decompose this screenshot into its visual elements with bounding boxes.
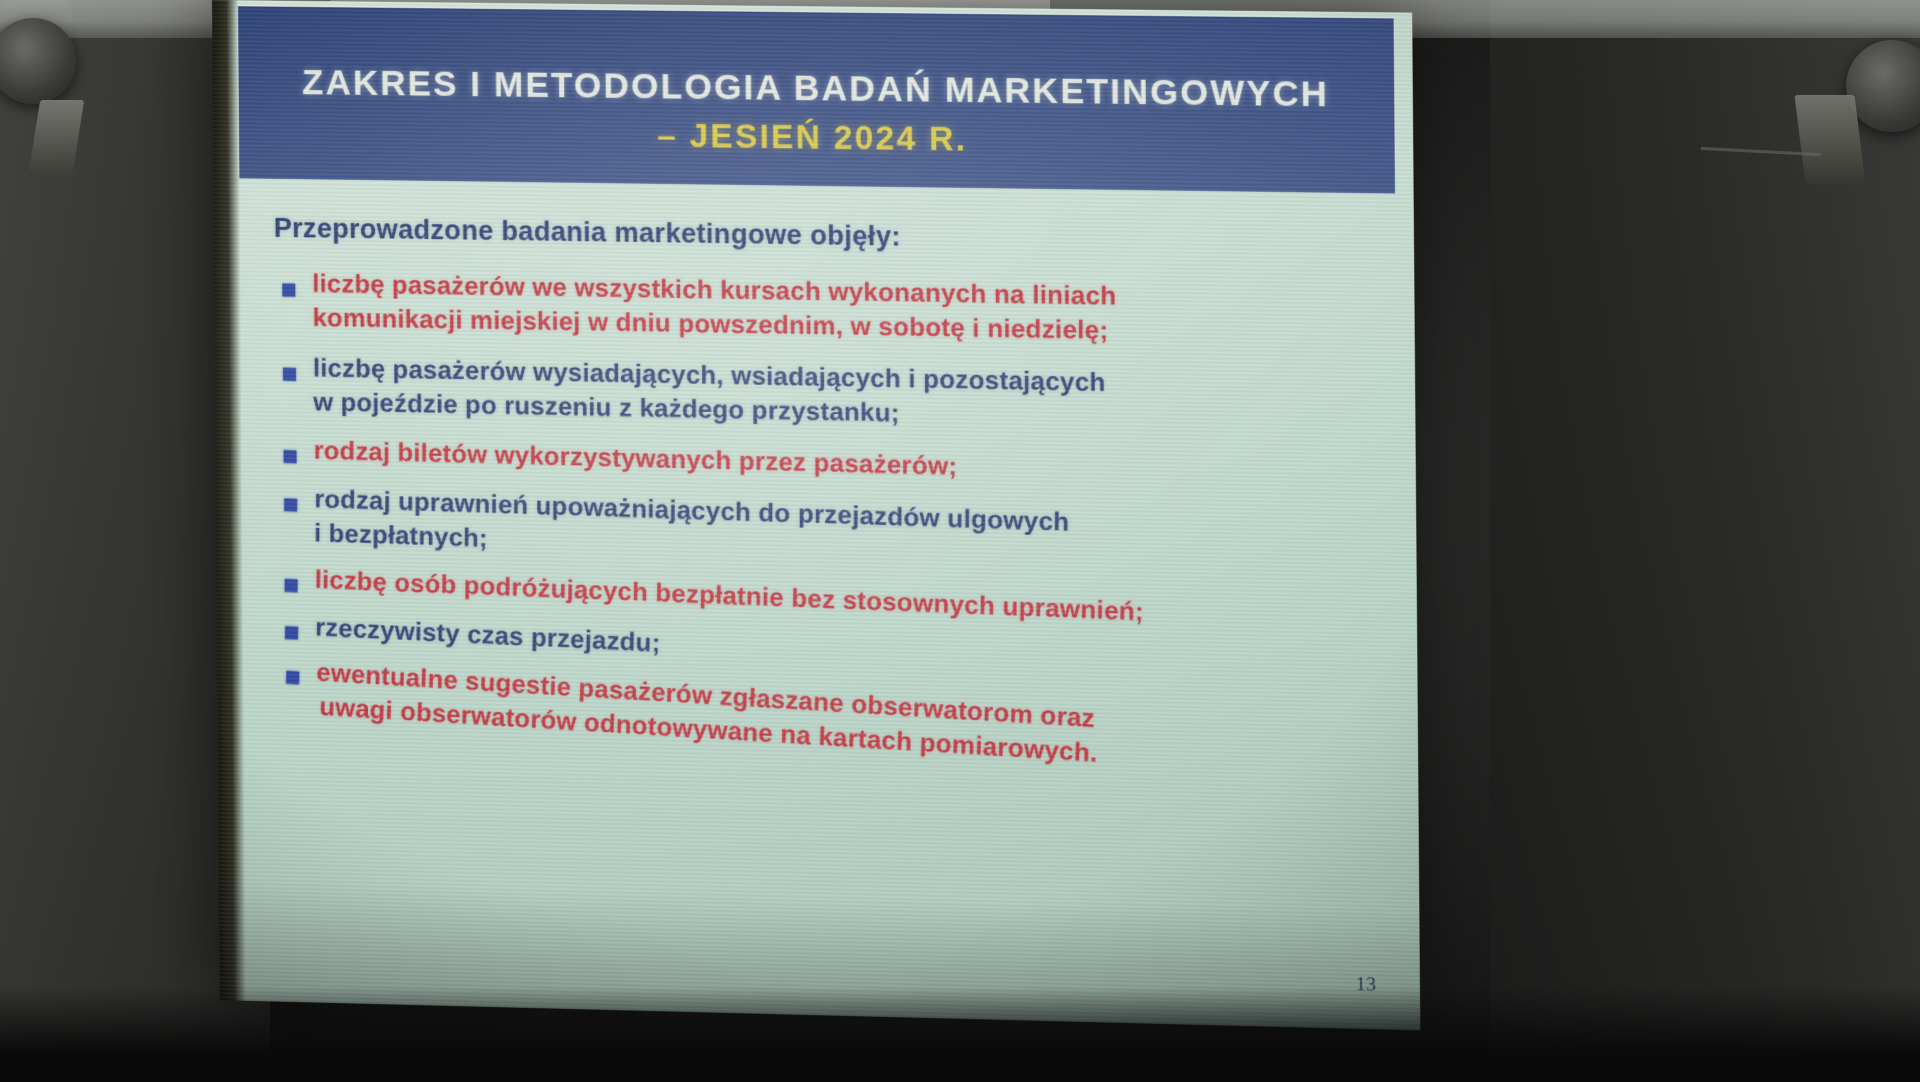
bullet-line-1: rzeczywisty czas przejazdu;: [315, 614, 661, 658]
bullet-square-icon: [285, 626, 298, 640]
bullet-text: liczbę pasażerów we wszystkich kursach w…: [312, 268, 1361, 353]
bullet-square-icon: [285, 579, 298, 593]
bullet-square-icon: [286, 671, 299, 685]
bullet-square-icon: [283, 367, 296, 380]
bullet-text: rodzaj biletów wykorzystywanych przez pa…: [314, 434, 1362, 494]
floor-shadow: [0, 987, 1920, 1082]
slide-body: Przeprowadzone badania marketingowe obję…: [239, 184, 1401, 1019]
bullet-text: rodzaj uprawnień upoważniających do prze…: [314, 483, 1363, 584]
list-item: liczbę pasażerów we wszystkich kursach w…: [274, 267, 1361, 353]
bullet-square-icon: [282, 283, 295, 296]
bullet-line-2: w pojeździe po ruszeniu z każdego przyst…: [313, 386, 1362, 440]
list-item: rodzaj biletów wykorzystywanych przez pa…: [276, 433, 1363, 494]
list-item: liczbę pasażerów wysiadających, wsiadają…: [275, 351, 1362, 440]
ceiling-bracket: [1699, 147, 1821, 187]
bullet-text: liczbę pasażerów wysiadających, wsiadają…: [313, 352, 1362, 440]
bullet-list: liczbę pasażerów we wszystkich kursach w…: [274, 268, 1364, 767]
bullet-line-1: rodzaj biletów wykorzystywanych przez pa…: [314, 436, 958, 480]
room-background: ZAKRES I METODOLOGIA BADAŃ MARKETINGOWYC…: [0, 0, 1920, 1082]
projection-screen: ZAKRES I METODOLOGIA BADAŃ MARKETINGOWYC…: [212, 0, 1420, 1030]
slide-surface: ZAKRES I METODOLOGIA BADAŃ MARKETINGOWYC…: [212, 0, 1420, 1030]
bullet-square-icon: [284, 498, 297, 511]
bullet-line-2: komunikacji miejskiej w dniu powszednim,…: [312, 302, 1361, 353]
slide-intro-text: Przeprowadzone badania marketingowe obję…: [274, 213, 1361, 259]
slide-title-main: ZAKRES I METODOLOGIA BADAŃ MARKETINGOWYC…: [302, 63, 1329, 115]
bullet-square-icon: [284, 449, 297, 462]
slide-title-subtitle: – JESIEŃ 2024 R.: [657, 116, 967, 158]
slide-title-banner: ZAKRES I METODOLOGIA BADAŃ MARKETINGOWYC…: [238, 6, 1395, 193]
